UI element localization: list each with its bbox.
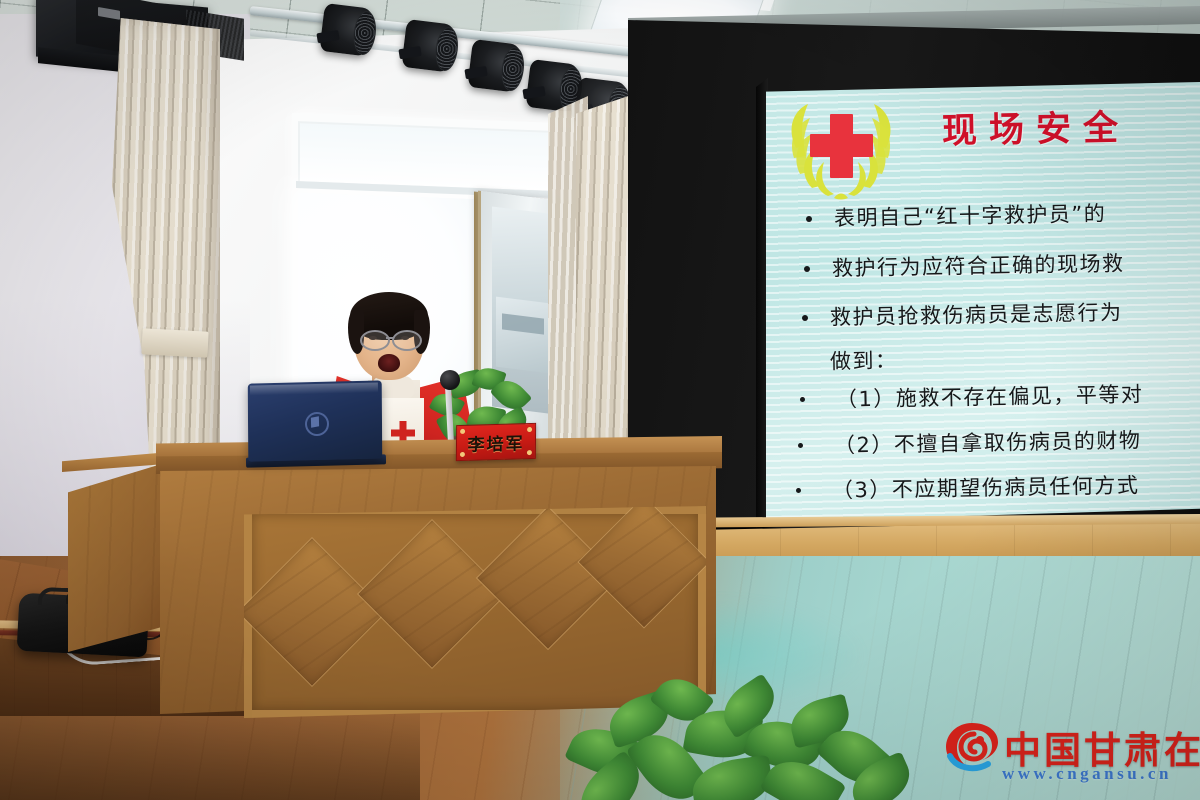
- stage-light-yoke-4: [522, 86, 545, 99]
- nameplate-corner-dot: [527, 450, 532, 455]
- nameplate-corner-dot: [460, 452, 465, 457]
- stage-light-1: [319, 3, 376, 57]
- slide-bullet-marker-3: [802, 315, 808, 321]
- watermark: 中国甘肃在线 www.cngansu.cn: [944, 716, 1194, 790]
- podium-diamond-2: [358, 520, 505, 667]
- nameplate-corner-dot: [527, 427, 532, 432]
- microphone-icon: [440, 370, 460, 390]
- curtain-tieback-left: [141, 328, 208, 357]
- stage-light-3: [467, 39, 524, 93]
- foreground-plant: [560, 672, 920, 800]
- stage-light-2: [401, 19, 458, 73]
- exterior-building: [496, 297, 550, 374]
- nameplate-text: 李培军: [467, 429, 524, 456]
- podium-diamond-4: [579, 497, 709, 627]
- stage-light-lens-2: [433, 26, 460, 72]
- watermark-url: www.cngansu.cn: [1002, 764, 1172, 784]
- stage-light-lens-1: [351, 10, 378, 56]
- stage-light-yoke-2: [398, 46, 421, 59]
- nameplate: 李培军: [456, 423, 536, 461]
- hair-left-side: [348, 310, 364, 354]
- eyeglasses-bridge: [386, 337, 394, 339]
- cngansu-logo-icon: [944, 720, 1000, 772]
- eyeglasses-left-lens-icon: [360, 330, 390, 351]
- podium-diamond-1: [238, 538, 385, 685]
- slide-line-7: （3）不应期望伤病员任何方式: [832, 469, 1140, 504]
- slide-line-5: （1）施救不存在偏见，平等对: [836, 378, 1144, 413]
- podium-left-return: [68, 462, 168, 652]
- eyeglasses-right-lens-icon: [392, 330, 422, 351]
- slide-line-1: 表明自己“红十字救护员”的: [834, 198, 1107, 233]
- slide-bullet-marker-5: [800, 397, 805, 402]
- photo-scene: 现场安全 表明自己“红十字救护员”的 救护行为应符合正确的现场救 救护员抢救伤病…: [0, 0, 1200, 800]
- red-cross-emblem-icon: [776, 96, 906, 202]
- slide-line-3: 救护员抢救伤病员是志愿行为: [830, 296, 1123, 331]
- slide-line-4: 做到：: [830, 344, 898, 375]
- nameplate-corner-dot: [460, 429, 465, 434]
- slide-bullet-marker-2: [804, 266, 810, 272]
- slide-line-6: （2）不擅自拿取伤病员的财物: [834, 424, 1142, 459]
- slide-bullet-marker-7: [796, 488, 801, 493]
- slide-line-2: 救护行为应符合正确的现场救: [832, 247, 1125, 282]
- slide-bullet-marker-6: [798, 443, 803, 448]
- mouth: [378, 354, 400, 372]
- fg-plant-leaf: [689, 755, 775, 800]
- slide-bullet-marker-1: [806, 216, 812, 222]
- slide-title: 现场安全: [942, 97, 1200, 154]
- dell-logo-inner: [311, 416, 319, 428]
- stage-light-yoke-3: [464, 66, 487, 79]
- stage-light-lens-3: [499, 46, 526, 92]
- stage-light-yoke-1: [316, 30, 339, 43]
- slide-content: 现场安全 表明自己“红十字救护员”的 救护行为应符合正确的现场救 救护员抢救伤病…: [766, 82, 1200, 522]
